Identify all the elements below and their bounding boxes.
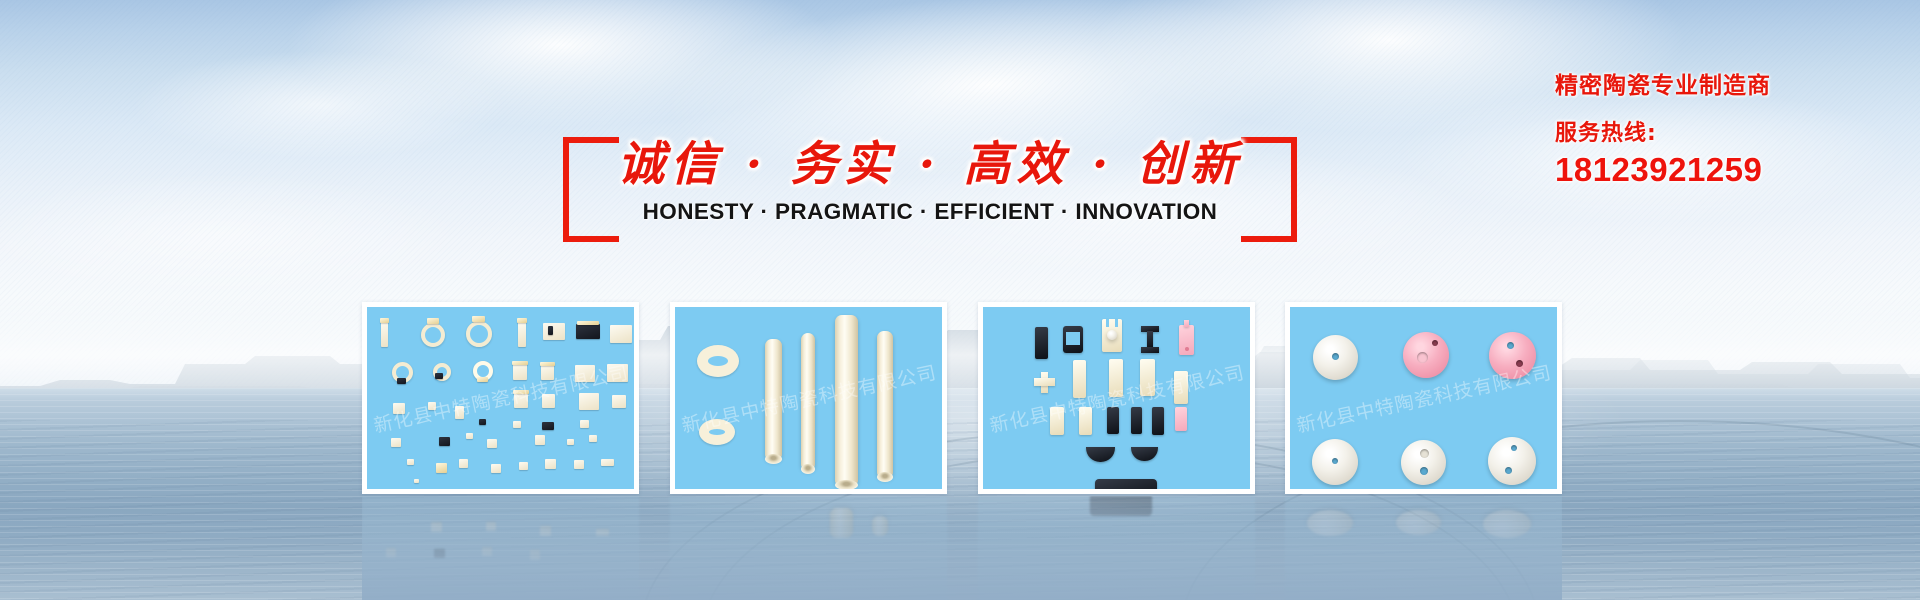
hotline-label: 服务热线: bbox=[1555, 115, 1885, 147]
product-panel-row: 新化县中特陶瓷科技有限公司 新化县中特陶瓷科技有限公 bbox=[362, 302, 1562, 494]
panel-image-components: 新化县中特陶瓷科技有限公司 bbox=[983, 307, 1250, 489]
panel-reflection bbox=[362, 496, 639, 600]
panel-reflection bbox=[978, 496, 1255, 600]
banner-stage: 诚信 · 务实 · 高效 · 创新 HONESTY · PRAGMATIC · … bbox=[0, 0, 1920, 600]
panel-image-tubes-rings: 新化县中特陶瓷科技有限公司 bbox=[675, 307, 942, 489]
product-panel[interactable]: 新化县中特陶瓷科技有限公司 bbox=[670, 302, 947, 494]
panel-image-smd-chips: 新化县中特陶瓷科技有限公司 bbox=[367, 307, 634, 489]
slogan-english: HONESTY · PRAGMATIC · EFFICIENT · INNOVA… bbox=[585, 199, 1275, 225]
slogan-block: 诚信 · 务实 · 高效 · 创新 HONESTY · PRAGMATIC · … bbox=[585, 137, 1275, 242]
slogan-chinese: 诚信 · 务实 · 高效 · 创新 bbox=[585, 125, 1275, 194]
contact-block: 精密陶瓷专业制造商 服务热线: 18123921259 bbox=[1555, 66, 1885, 189]
panel-reflection bbox=[1285, 496, 1562, 600]
panel-image-discs-caps: 新化县中特陶瓷科技有限公司 bbox=[1290, 307, 1557, 489]
product-panel[interactable]: 新化县中特陶瓷科技有限公司 bbox=[362, 302, 639, 494]
hotline-phone-number[interactable]: 18123921259 bbox=[1555, 151, 1885, 189]
panel-reflection bbox=[670, 496, 947, 600]
panel-reflections bbox=[362, 496, 1562, 600]
product-panel[interactable]: 新化县中特陶瓷科技有限公司 bbox=[1285, 302, 1562, 494]
company-tagline: 精密陶瓷专业制造商 bbox=[1555, 66, 1885, 100]
product-panel[interactable]: 新化县中特陶瓷科技有限公司 bbox=[978, 302, 1255, 494]
